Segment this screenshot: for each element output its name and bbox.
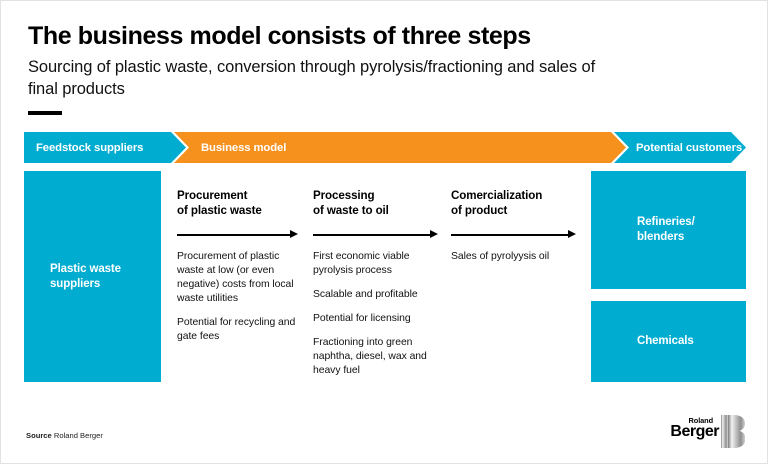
logo-berger-text: Berger xyxy=(670,423,719,441)
step-heading: Processing of waste to oil xyxy=(313,189,441,218)
step-bullet: Potential for recycling and gate fees xyxy=(177,316,301,344)
plastic-waste-suppliers-box: Plastic waste suppliers xyxy=(24,171,161,382)
step-column-processing: Processing of waste to oil First economi… xyxy=(313,189,441,378)
step-column-procurement: Procurement of plastic waste Procurement… xyxy=(177,189,301,344)
banner-segment-label: Feedstock suppliers xyxy=(36,142,143,154)
plastic-waste-suppliers-label: Plastic waste suppliers xyxy=(24,262,161,291)
process-arrow-icon xyxy=(451,230,579,239)
customer-box-label: Chemicals xyxy=(591,334,746,349)
step-bullet: Potential for licensing xyxy=(313,312,441,326)
customer-box-refineries: Refineries/ blenders xyxy=(591,171,746,289)
process-arrow-icon xyxy=(177,230,301,239)
step-bullet: Fractioning into green naphtha, diesel, … xyxy=(313,336,441,378)
step-bullet-list: Procurement of plastic waste at low (or … xyxy=(177,250,301,344)
step-bullet: First economic viable pyrolysis process xyxy=(313,250,441,278)
title-rule-divider xyxy=(28,111,62,115)
banner-segment-business-model[interactable]: Business model xyxy=(174,132,626,163)
customer-box-label: Refineries/ blenders xyxy=(591,215,746,244)
source-value: Roland Berger xyxy=(54,431,103,440)
roland-berger-b-mark-icon xyxy=(721,415,745,448)
step-bullet-list: First economic viable pyrolysis process … xyxy=(313,250,441,378)
banner-segment-feedstock-suppliers[interactable]: Feedstock suppliers xyxy=(24,132,186,163)
customer-box-chemicals: Chemicals xyxy=(591,301,746,382)
page-subtitle: Sourcing of plastic waste, conversion th… xyxy=(28,57,628,101)
source-label: Source xyxy=(26,431,52,440)
process-banner: Feedstock suppliers Business model Poten… xyxy=(24,132,746,163)
process-arrow-icon xyxy=(313,230,441,239)
page-title: The business model consists of three ste… xyxy=(28,23,728,51)
source-note: Source Roland Berger xyxy=(26,431,103,440)
step-heading: Comercialization of product xyxy=(451,189,579,218)
step-bullet: Sales of pyrolyysis oil xyxy=(451,250,579,264)
banner-segment-label: Potential customers xyxy=(636,142,742,154)
roland-berger-logo: Roland Berger xyxy=(669,415,745,451)
banner-segment-potential-customers[interactable]: Potential customers xyxy=(614,132,746,163)
step-bullet: Scalable and profitable xyxy=(313,288,441,302)
step-bullet-list: Sales of pyrolyysis oil xyxy=(451,250,579,264)
banner-segment-label: Business model xyxy=(201,142,286,154)
slide-canvas: The business model consists of three ste… xyxy=(0,0,768,464)
step-heading: Procurement of plastic waste xyxy=(177,189,301,218)
step-bullet: Procurement of plastic waste at low (or … xyxy=(177,250,301,306)
step-column-comercialization: Comercialization of product Sales of pyr… xyxy=(451,189,579,264)
